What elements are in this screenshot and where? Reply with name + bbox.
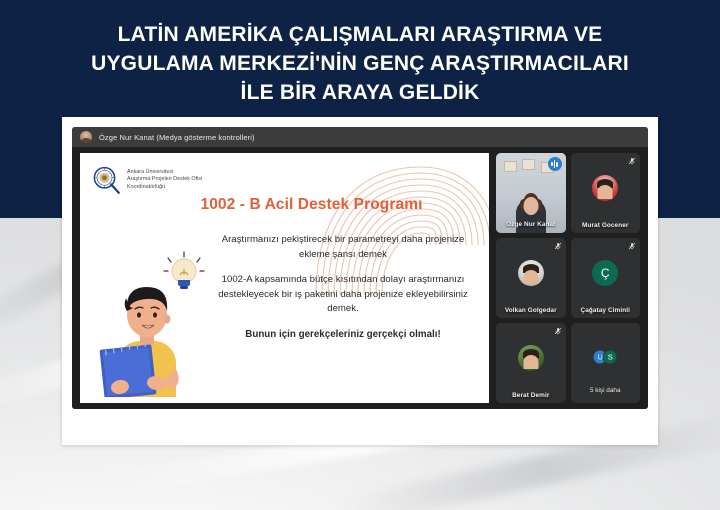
overflow-count-label: 5 kişi daha — [571, 387, 641, 394]
avatar — [518, 260, 544, 286]
zoom-share-toolbar[interactable]: Özge Nur Kanat (Medya gösterme kontrolle… — [72, 127, 648, 147]
logo-line-2: Araştırma Projeleri Destek Ofisi — [127, 176, 202, 183]
logo-line-3: Koordinatörlüğü — [127, 184, 202, 191]
ankara-university-logo-icon — [91, 165, 121, 195]
lightbulb-icon — [164, 252, 204, 289]
host-avatar — [80, 131, 92, 143]
mic-off-icon — [554, 242, 562, 250]
slide-paragraph-1: Araştırmanızı pekiştirecek bir parametre… — [208, 233, 478, 262]
logo-line-1: Ankara Üniversitesi — [127, 169, 202, 176]
navy-rail-left — [0, 170, 62, 218]
navy-rail-right — [658, 170, 720, 218]
slide-paragraph-2: 1002-A kapsamında bütçe kısıtından dolay… — [208, 273, 478, 317]
participant-grid: Özge Nur Kanat Murat Gocener — [496, 153, 640, 403]
participant-tile-berat-demir[interactable]: Berat Demir — [496, 323, 566, 403]
participant-name: Volkan Golgedar — [496, 307, 566, 314]
page-title-line-2: UYGULAMA MERKEZİ'NİN GENÇ ARAŞTIRMACILAR… — [28, 49, 692, 78]
slide-body-text: Araştırmanızı pekiştirecek bir parametre… — [208, 233, 478, 342]
slide-emphasis-line: Bunun için gerekçeleriniz gerçekçi olmal… — [208, 328, 478, 343]
page-title-line-3: İLE BİR ARAYA GELDİK — [28, 78, 692, 107]
university-logo-text: Ankara Üniversitesi Araştırma Projeleri … — [127, 169, 202, 191]
participant-name: Murat Gocener — [571, 222, 641, 229]
participant-tile-volkan-golgedar[interactable]: Volkan Golgedar — [496, 238, 566, 318]
share-control-label: Özge Nur Kanat (Medya gösterme kontrolle… — [99, 133, 255, 142]
screenshot-card: Özge Nur Kanat (Medya gösterme kontrolle… — [62, 117, 658, 445]
mic-off-icon — [628, 157, 636, 165]
page-title-line-1: LATİN AMERİKA ÇALIŞMALARI ARAŞTIRMA VE — [28, 20, 692, 49]
student-illustration — [94, 249, 212, 397]
audio-active-icon — [548, 157, 562, 171]
participant-tile-more[interactable]: U S 5 kişi daha — [571, 323, 641, 403]
zoom-content-area: Ankara Üniversitesi Araştırma Projeleri … — [72, 147, 648, 409]
participant-name: Özge Nur Kanat — [496, 221, 566, 228]
overflow-avatars: U S — [593, 349, 618, 364]
mic-off-icon — [554, 327, 562, 335]
avatar-initial: Ç — [592, 260, 618, 286]
university-logo-row: Ankara Üniversitesi Araştırma Projeleri … — [91, 165, 202, 195]
overflow-avatar-2: S — [603, 349, 618, 364]
page-title: LATİN AMERİKA ÇALIŞMALARI ARAŞTIRMA VE U… — [0, 20, 720, 107]
participant-tile-ozge-nur-kanat[interactable]: Özge Nur Kanat — [496, 153, 566, 233]
avatar — [592, 175, 618, 201]
shared-slide: Ankara Üniversitesi Araştırma Projeleri … — [80, 153, 489, 403]
participant-name: Berat Demir — [496, 392, 566, 399]
mic-off-icon — [628, 242, 636, 250]
participant-name: Çağatay Ciminli — [571, 307, 641, 314]
avatar — [518, 345, 544, 371]
slide-title: 1002 - B Acil Destek Programı — [80, 196, 489, 214]
zoom-meeting-window: Özge Nur Kanat (Medya gösterme kontrolle… — [72, 127, 648, 409]
participant-tile-cagatay-ciminli[interactable]: Ç Çağatay Ciminli — [571, 238, 641, 318]
participant-tile-murat-gocener[interactable]: Murat Gocener — [571, 153, 641, 233]
